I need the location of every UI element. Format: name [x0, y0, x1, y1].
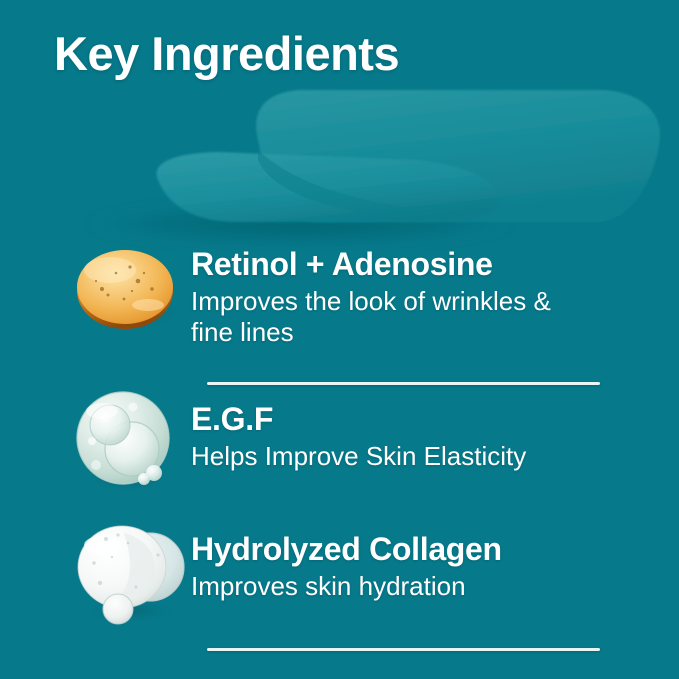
droplet-gloss-small: [132, 299, 164, 311]
gel-bubble-small-b: [138, 473, 150, 485]
gel-bubble-tiny-c: [91, 460, 101, 470]
ingredient-item-retinol: Retinol + Adenosine Improves the look of…: [0, 236, 679, 369]
teal-swoosh-lower: [157, 152, 500, 222]
ingredient-item-egf: E.G.F Helps Improve Skin Elasticity: [0, 369, 679, 503]
swoosh-overlap-highlight: [258, 150, 470, 220]
ingredient-description: Improves skin hydration: [191, 571, 591, 603]
mint-bubble-gel-icon: [66, 383, 191, 503]
gel-highlight: [86, 403, 118, 419]
ingredient-description: Helps Improve Skin Elasticity: [191, 441, 591, 473]
ingredient-item-collagen: Hydrolyzed Collagen Improves skin hydrat…: [0, 503, 679, 637]
ingredient-title: Retinol + Adenosine: [191, 246, 665, 284]
ingredient-title: E.G.F: [191, 401, 665, 439]
teal-swoosh-upper: [256, 90, 660, 222]
collagen-highlight: [84, 536, 120, 554]
ingredient-description: Improves the look of wrinkles & fine lin…: [191, 286, 591, 349]
ingredient-text-block: Retinol + Adenosine Improves the look of…: [191, 236, 679, 349]
clear-collagen-gel-icon: [66, 517, 191, 637]
gel-bubble-tiny-b: [129, 403, 138, 412]
gel-bubble-tiny-a: [88, 437, 96, 445]
ingredient-title: Hydrolyzed Collagen: [191, 531, 665, 569]
ingredient-text-block: E.G.F Helps Improve Skin Elasticity: [191, 383, 679, 472]
droplet-gloss: [84, 257, 136, 283]
orange-gel-droplet-icon: [66, 237, 191, 357]
page-title: Key Ingredients: [54, 28, 399, 81]
ingredient-text-block: Hydrolyzed Collagen Improves skin hydrat…: [191, 517, 679, 602]
ingredient-list: Retinol + Adenosine Improves the look of…: [0, 236, 679, 637]
divider-after-egf: [207, 648, 600, 651]
